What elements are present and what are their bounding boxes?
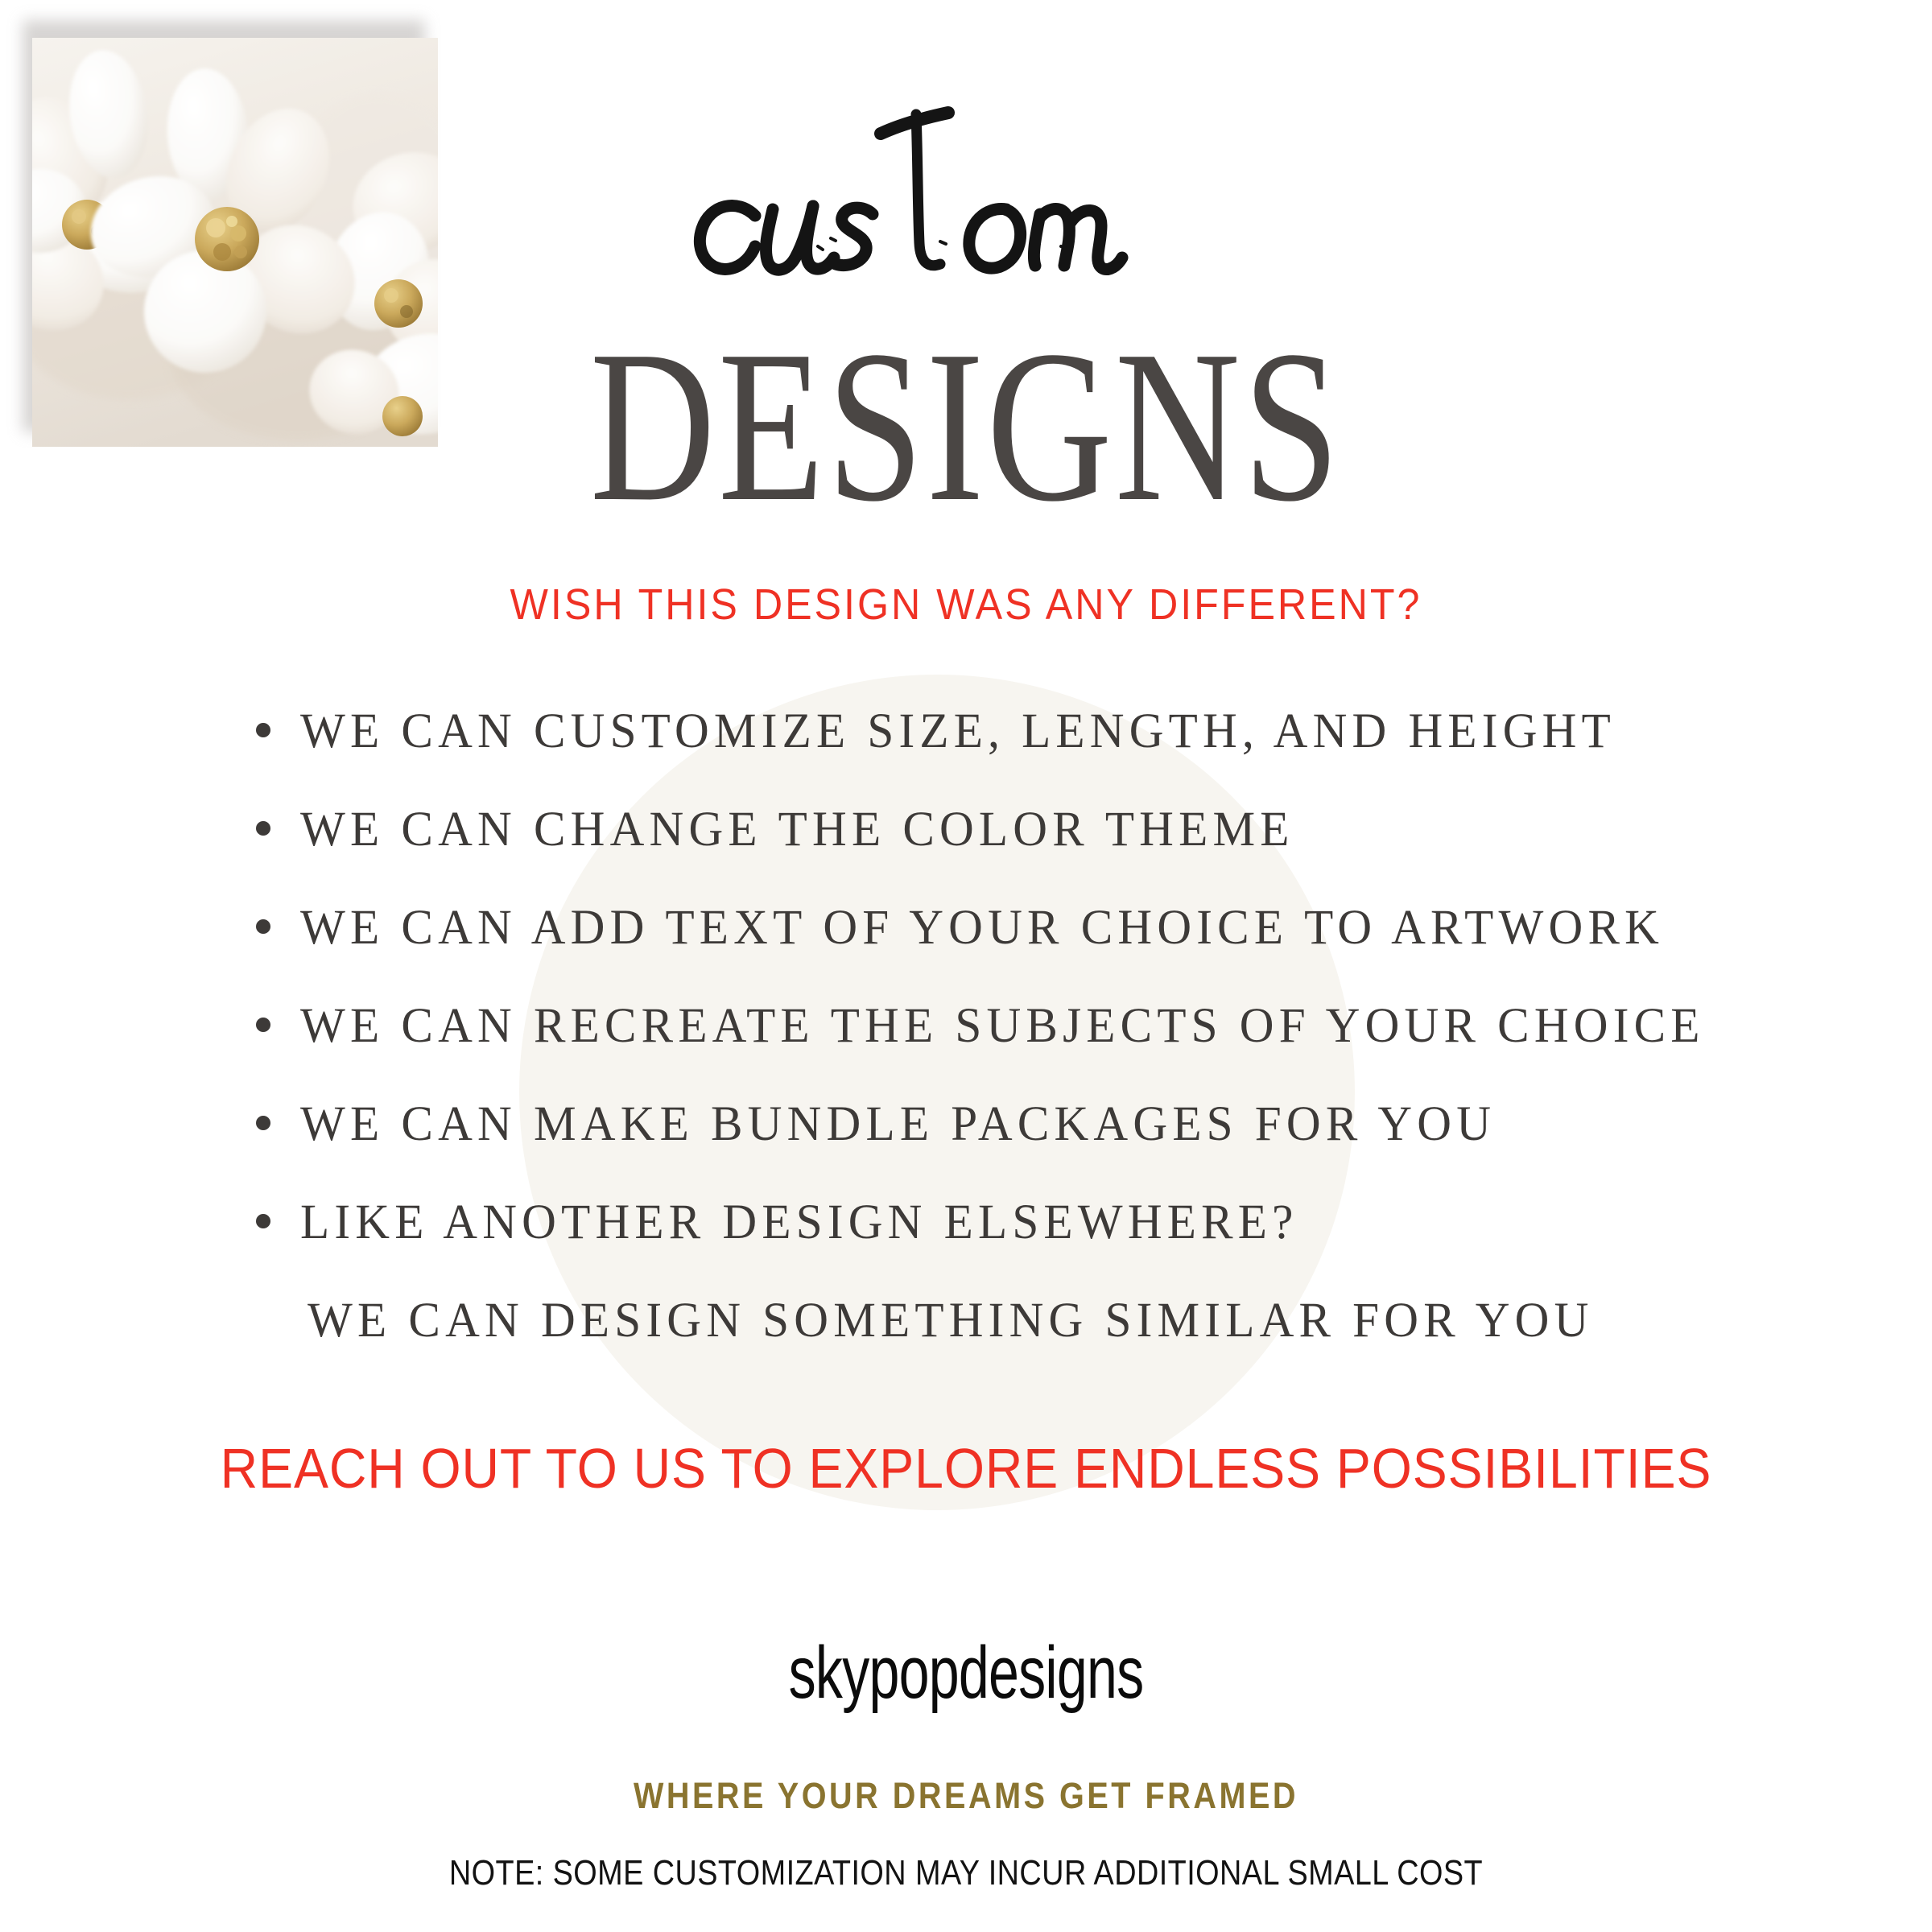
call-to-action-text: REACH OUT TO US TO EXPLORE ENDLESS POSSI…: [77, 1438, 1855, 1499]
feature-label: WE CAN RECREATE THE SUBJECTS OF YOUR CHO…: [300, 1000, 1705, 1053]
bullet-dot-icon: [256, 723, 270, 737]
brand-wordmark: skypopdesigns: [251, 1633, 1681, 1713]
bullet-dot-icon: [256, 1018, 270, 1032]
brand-tagline: WHERE YOUR DREAMS GET FRAMED: [116, 1776, 1816, 1816]
feature-label: WE CAN CHANGE THE COLOR THEME: [300, 803, 1294, 857]
list-item-continuation: WE CAN DESIGN SOMETHING SIMILAR FOR YOU: [0, 1294, 1932, 1393]
list-item: LIKE ANOTHER DESIGN ELSEWHERE?: [0, 1196, 1932, 1294]
subtitle-question: WISH THIS DESIGN WAS ANY DIFFERENT?: [68, 581, 1864, 628]
feature-label: WE CAN CUSTOMIZE SIZE, LENGTH, AND HEIGH…: [300, 705, 1616, 758]
bullet-dot-icon: [256, 1116, 270, 1130]
bullet-dot-icon: [256, 1214, 270, 1228]
feature-label: WE CAN DESIGN SOMETHING SIMILAR FOR YOU: [308, 1294, 1594, 1348]
feature-label: LIKE ANOTHER DESIGN ELSEWHERE?: [300, 1196, 1298, 1249]
list-item: WE CAN CHANGE THE COLOR THEME: [0, 803, 1932, 902]
list-item: WE CAN ADD TEXT OF YOUR CHOICE TO ARTWOR…: [0, 902, 1932, 1000]
feature-label: WE CAN MAKE BUNDLE PACKAGES FOR YOU: [300, 1098, 1496, 1151]
list-item: WE CAN RECREATE THE SUBJECTS OF YOUR CHO…: [0, 1000, 1932, 1098]
bullet-dot-icon: [256, 919, 270, 934]
list-item: WE CAN CUSTOMIZE SIZE, LENGTH, AND HEIGH…: [0, 705, 1932, 803]
feature-label: WE CAN ADD TEXT OF YOUR CHOICE TO ARTWOR…: [300, 902, 1664, 955]
floral-painting-icon: [32, 38, 438, 447]
bullet-dot-icon: [256, 821, 270, 836]
artwork-thumbnail: [23, 20, 438, 447]
artwork-thumbnail-image: [32, 38, 438, 447]
custom-script-lettering: [660, 97, 1272, 282]
feature-list: WE CAN CUSTOMIZE SIZE, LENGTH, AND HEIGH…: [0, 705, 1932, 1393]
list-item: WE CAN MAKE BUNDLE PACKAGES FOR YOU: [0, 1098, 1932, 1196]
footnote-disclaimer: NOTE: SOME CUSTOMIZATION MAY INCUR ADDIT…: [135, 1853, 1797, 1893]
